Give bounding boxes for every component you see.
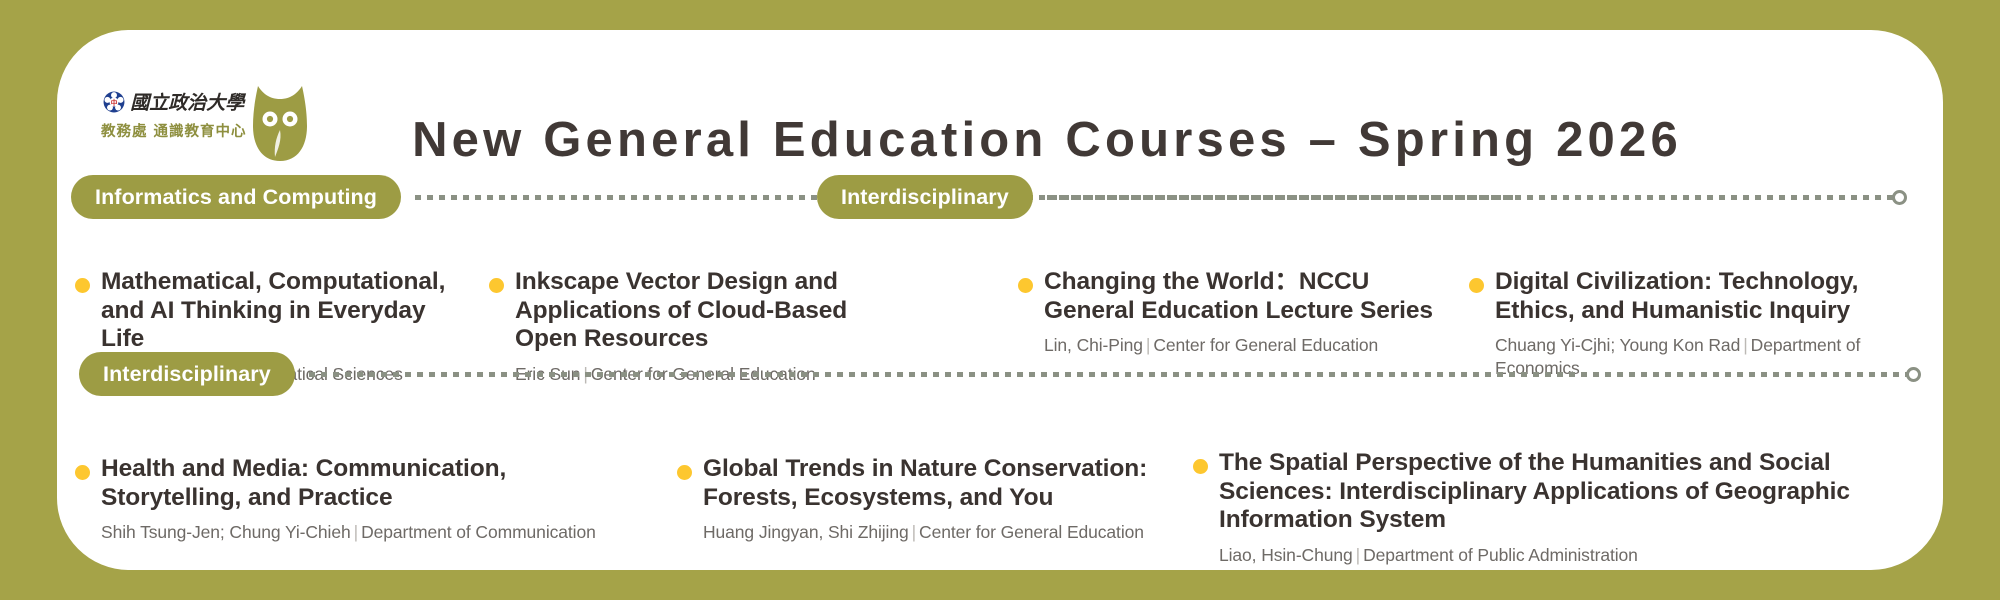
course-title: Digital Civilization: Technology, Ethics…	[1495, 268, 1869, 325]
course-item[interactable]: Global Trends in Nature Conservation: Fo…	[677, 455, 1172, 544]
course-department: Center for General Education	[919, 522, 1144, 542]
course-title: Changing the World：NCCU General Educatio…	[1044, 268, 1433, 325]
nccu-logo: 中 國立政治大學 教務處 通識教育中心	[101, 82, 331, 168]
course-title: Inkscape Vector Design and Applications …	[515, 268, 909, 354]
page-title: New General Education Courses – Spring 2…	[337, 112, 1757, 168]
course-instructor: Shih Tsung-Jen; Chung Yi-Chieh	[101, 522, 351, 542]
category-badge-interdisciplinary[interactable]: Interdisciplinary	[817, 175, 1033, 219]
poster-root: 中 國立政治大學 教務處 通識教育中心 New General Educatio…	[0, 0, 2000, 600]
meta-separator: |	[909, 522, 919, 542]
category-badge-interdisciplinary[interactable]: Interdisciplinary	[79, 352, 295, 396]
section-header-interdisciplinary-1: Interdisciplinary	[817, 175, 1907, 219]
bullet-icon	[489, 278, 504, 293]
bullet-icon	[75, 278, 90, 293]
course-title: Mathematical, Computational, and AI Thin…	[101, 268, 470, 354]
course-meta: Huang Jingyan, Shi Zhijing|Center for Ge…	[703, 521, 1172, 544]
course-meta: Liao, Hsin-Chung|Department of Public Ad…	[1219, 544, 1893, 567]
bullet-icon	[1193, 459, 1208, 474]
bullet-icon	[1018, 278, 1033, 293]
dotted-rule-endcap	[1892, 190, 1907, 205]
course-item[interactable]: Health and Media: Communication, Storyte…	[75, 455, 645, 544]
course-title: The Spatial Perspective of the Humanitie…	[1219, 449, 1893, 535]
poster-header: 中 國立政治大學 教務處 通識教育中心 New General Educatio…	[57, 30, 1943, 160]
svg-text:中: 中	[111, 98, 118, 107]
course-department: Department of Public Administration	[1363, 545, 1638, 565]
content-card: 中 國立政治大學 教務處 通識教育中心 New General Educatio…	[57, 30, 1943, 570]
bullet-icon	[1469, 278, 1484, 293]
dotted-rule	[1047, 195, 1893, 200]
course-department: Department of Communication	[361, 522, 596, 542]
course-meta: Shih Tsung-Jen; Chung Yi-Chieh|Departmen…	[101, 521, 645, 544]
course-item[interactable]: Changing the World：NCCU General Educatio…	[1018, 268, 1433, 357]
course-title: Health and Media: Communication, Storyte…	[101, 455, 645, 512]
logo-unit-name: 教務處 通識教育中心	[101, 120, 247, 141]
meta-separator: |	[351, 522, 361, 542]
course-item[interactable]: The Spatial Perspective of the Humanitie…	[1193, 449, 1893, 567]
dotted-rule	[309, 372, 1907, 377]
meta-separator: |	[1353, 545, 1363, 565]
category-badge-informatics-and-computing[interactable]: Informatics and Computing	[71, 175, 401, 219]
bullet-icon	[75, 465, 90, 480]
dotted-rule-endcap	[1906, 367, 1921, 382]
course-instructor: Huang Jingyan, Shi Zhijing	[703, 522, 909, 542]
section-header-interdisciplinary-2: Interdisciplinary	[79, 352, 1921, 396]
course-instructor: Liao, Hsin-Chung	[1219, 545, 1353, 565]
course-title: Global Trends in Nature Conservation: Fo…	[703, 455, 1172, 512]
owl-icon	[249, 82, 311, 162]
logo-university-name: 國立政治大學	[130, 88, 244, 115]
logo-text-block: 中 國立政治大學 教務處 通識教育中心	[101, 82, 247, 141]
logo-wordmark: 中 國立政治大學	[103, 88, 244, 115]
nccu-seal-icon: 中	[103, 91, 125, 113]
bullet-icon	[677, 465, 692, 480]
